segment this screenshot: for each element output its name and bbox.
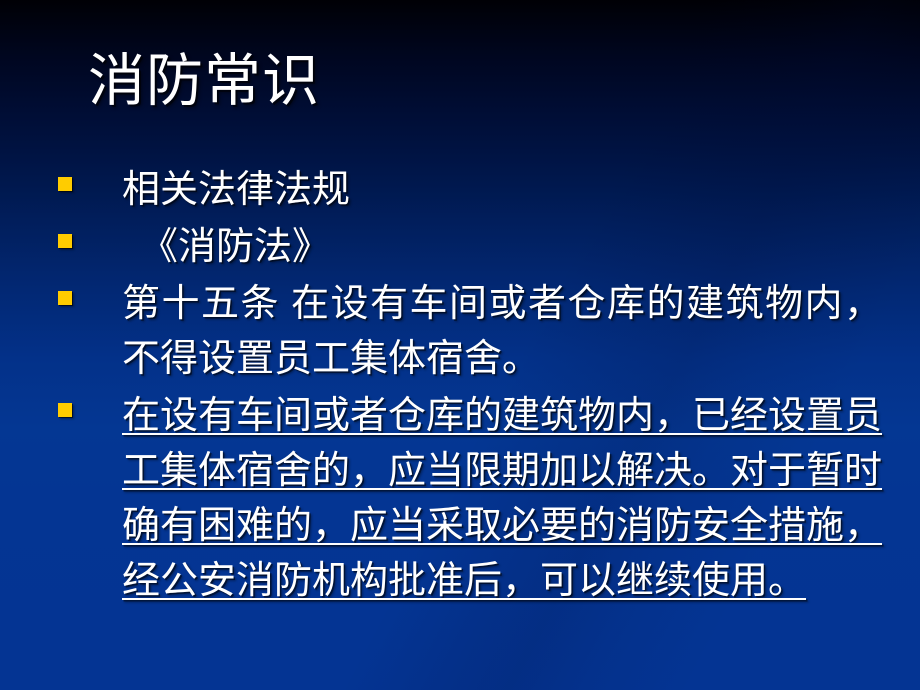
list-item: 第十五条 在设有车间或者仓库的建筑物内，不得设置员工集体宿舍。 xyxy=(52,277,882,387)
slide-title: 消防常识 xyxy=(88,50,320,114)
list-item: 在设有车间或者仓库的建筑物内，已经设置员工集体宿舍的，应当限期加以解决。对于暂时… xyxy=(52,389,882,609)
list-item-text: 《消防法》 xyxy=(140,220,882,275)
presentation-slide: 消防常识 相关法律法规 《消防法》 第十五条 在设有车间或者仓库的建筑物内，不得… xyxy=(0,0,920,690)
list-item-text: 相关法律法规 xyxy=(122,163,882,218)
square-bullet-icon xyxy=(58,177,72,191)
list-item-text: 第十五条 在设有车间或者仓库的建筑物内，不得设置员工集体宿舍。 xyxy=(122,277,882,387)
slide-body-content: 相关法律法规 《消防法》 第十五条 在设有车间或者仓库的建筑物内，不得设置员工集… xyxy=(52,163,882,611)
square-bullet-icon xyxy=(58,234,72,248)
list-item-text: 在设有车间或者仓库的建筑物内，已经设置员工集体宿舍的，应当限期加以解决。对于暂时… xyxy=(122,389,882,609)
square-bullet-icon xyxy=(58,403,72,417)
list-item: 《消防法》 xyxy=(52,220,882,275)
list-item: 相关法律法规 xyxy=(52,163,882,218)
square-bullet-icon xyxy=(58,291,72,305)
